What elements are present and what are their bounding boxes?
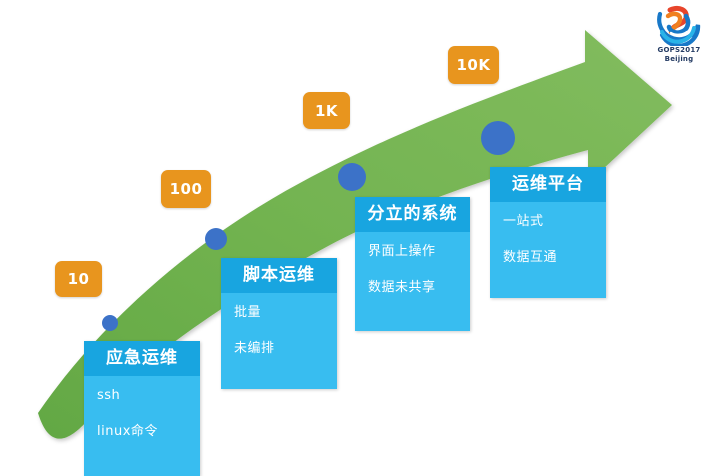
stage-card-emergency-ops-line-2: linux命令 <box>97 425 187 439</box>
gops-logo-line-2: Beijing <box>648 55 710 64</box>
stage-card-isolated-systems-line-2: 数据未共享 <box>368 281 457 295</box>
stage-card-script-ops-body: 批量 未编排 <box>221 293 337 367</box>
stage-card-ops-platform-title: 运维平台 <box>490 167 606 202</box>
stage-card-emergency-ops-body: ssh linux命令 <box>84 376 200 450</box>
scale-badge-100: 100 <box>161 170 211 208</box>
stage-card-script-ops-line-2: 未编排 <box>234 342 324 356</box>
stage-card-script-ops: 脚本运维 批量 未编排 <box>221 258 337 389</box>
scale-badge-100-label: 100 <box>170 180 203 198</box>
stage-marker-2 <box>205 228 227 250</box>
scale-badge-1k: 1K <box>303 92 350 129</box>
stage-card-isolated-systems-body: 界面上操作 数据未共享 <box>355 232 470 306</box>
scale-badge-10k: 10K <box>448 46 499 84</box>
stage-card-ops-platform: 运维平台 一站式 数据互通 <box>490 167 606 298</box>
stage-card-ops-platform-body: 一站式 数据互通 <box>490 202 606 276</box>
gops-logo: GOPS2017 Beijing <box>648 2 710 64</box>
gops-swirl-icon <box>648 2 710 46</box>
scale-badge-10: 10 <box>55 261 102 297</box>
scale-badge-1k-label: 1K <box>315 102 338 120</box>
stage-card-ops-platform-line-2: 数据互通 <box>503 251 593 265</box>
stage-card-isolated-systems-line-1: 界面上操作 <box>368 245 457 259</box>
stage-card-ops-platform-line-1: 一站式 <box>503 215 593 229</box>
slide-canvas: 10 100 1K 10K 应急运维 ssh linux命令 脚本运维 批量 未… <box>0 0 717 476</box>
stage-card-script-ops-title: 脚本运维 <box>221 258 337 293</box>
stage-card-emergency-ops: 应急运维 ssh linux命令 <box>84 341 200 476</box>
stage-card-script-ops-line-1: 批量 <box>234 306 324 320</box>
stage-card-isolated-systems-title: 分立的系统 <box>355 197 470 232</box>
stage-card-isolated-systems: 分立的系统 界面上操作 数据未共享 <box>355 197 470 331</box>
stage-marker-4 <box>481 121 515 155</box>
stage-card-emergency-ops-title: 应急运维 <box>84 341 200 376</box>
stage-marker-3 <box>338 163 366 191</box>
gops-logo-line-1: GOPS2017 <box>648 46 710 55</box>
scale-badge-10k-label: 10K <box>457 56 491 74</box>
scale-badge-10-label: 10 <box>68 270 90 288</box>
stage-marker-1 <box>102 315 118 331</box>
stage-card-emergency-ops-line-1: ssh <box>97 389 187 403</box>
